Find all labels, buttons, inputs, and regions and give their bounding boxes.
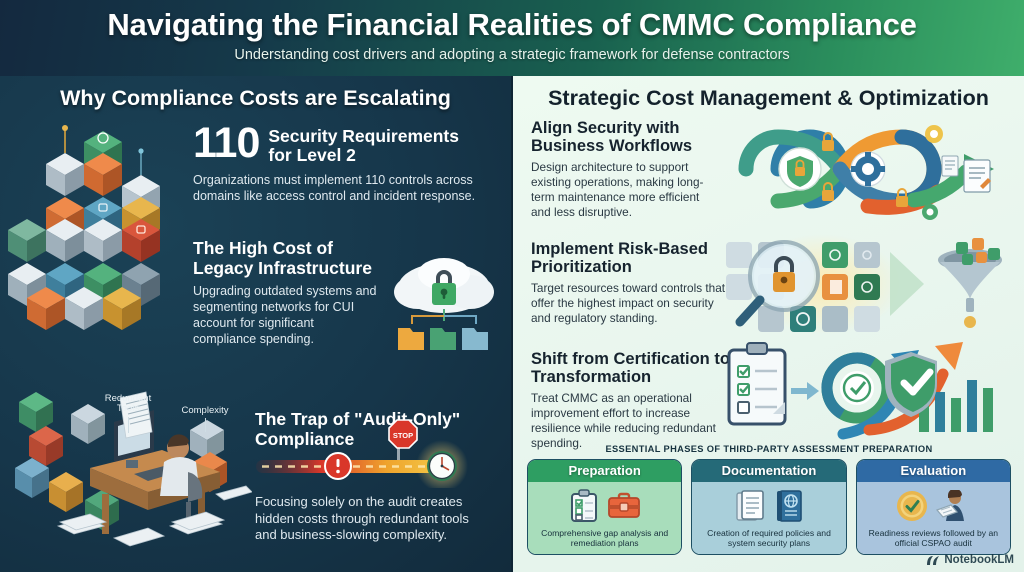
auditor-person-icon [936, 490, 970, 522]
shift-transformation-block: Shift from Certification to Transformati… [531, 350, 731, 451]
risk-prioritization-block: Implement Risk-Based Prioritization Targ… [531, 240, 731, 326]
documents-icon [735, 489, 767, 523]
checklist-icon [569, 489, 599, 523]
policy-binder-icon [775, 489, 803, 523]
clipboard-icon [729, 343, 785, 424]
cloud-lock-folders-illustration [384, 252, 504, 360]
folder-icon-blue [462, 328, 488, 350]
audit-trap-timeline-illustration: STOP [252, 418, 476, 488]
phase-card-evaluation-label: Evaluation [857, 460, 1010, 482]
label-redundant-tools: Redundant Tools [98, 394, 158, 415]
stat-block-110: 110 Security Requirements for Level 2 Or… [193, 124, 485, 204]
legacy-infrastructure-description: Upgrading outdated systems and segmentin… [193, 283, 378, 347]
clock-icon [427, 451, 457, 481]
funnel-icon [938, 238, 1002, 328]
gear-icon-small-top [925, 125, 943, 143]
watermark: NotebookLM [926, 554, 1014, 566]
label-complexity: Complexity [176, 406, 234, 416]
left-column-heading: Why Compliance Costs are Escalating [0, 76, 511, 111]
phases-panel-title: ESSENTIAL PHASES OF THIRD-PARTY ASSESSME… [527, 444, 1011, 454]
legacy-infrastructure-block: The High Cost of Legacy Infrastructure U… [193, 239, 378, 347]
audit-only-trap-description-wrap: Focusing solely on the audit creates hid… [255, 494, 487, 544]
risk-prioritization-illustration [718, 228, 1018, 343]
page-subtitle: Understanding cost drivers and adopting … [0, 47, 1024, 63]
lock-icon-c [896, 189, 908, 207]
document-icon-small [942, 156, 958, 176]
document-icon-large [964, 160, 991, 192]
notebooklm-logo-icon [926, 554, 940, 566]
leader-line-complexity [205, 418, 206, 432]
phase-card-documentation-caption: Creation of required policies and system… [696, 528, 841, 549]
folder-icon-orange [398, 328, 424, 350]
phase-card-evaluation[interactable]: Evaluation [856, 459, 1011, 555]
align-security-title: Align Security with Business Workflows [531, 119, 709, 156]
risk-prioritization-description: Target resources toward controls that of… [531, 281, 731, 326]
phase-card-evaluation-caption: Readiness reviews followed by an officia… [861, 528, 1006, 549]
shift-transformation-description: Treat CMMC as an operational improvement… [531, 391, 731, 451]
stat-label: Security Requirements for Level 2 [268, 124, 485, 166]
toolbox-icon [607, 492, 641, 520]
arrow-icon-right [791, 382, 819, 400]
phase-card-documentation-label: Documentation [692, 460, 845, 482]
phase-card-preparation-label: Preparation [528, 460, 681, 482]
legacy-infrastructure-title: The High Cost of Legacy Infrastructure [193, 239, 378, 278]
alert-icon [325, 453, 351, 479]
folder-icon-green [430, 328, 456, 350]
left-column: Why Compliance Costs are Escalating [0, 76, 511, 572]
leader-line-redundant-tools [128, 417, 129, 433]
phase-card-preparation-caption: Comprehensive gap analysis and remediati… [532, 528, 677, 549]
phase-card-documentation[interactable]: Documentation [691, 459, 846, 555]
stat-description: Organizations must implement 110 control… [193, 172, 485, 204]
infinity-workflow-illustration [718, 114, 1018, 224]
stat-number: 110 [193, 124, 259, 164]
align-security-description: Design architecture to support existing … [531, 160, 709, 220]
page-title: Navigating the Financial Realities of CM… [0, 0, 1024, 43]
audit-only-trap-description: Focusing solely on the audit creates hid… [255, 494, 487, 544]
shift-transformation-title: Shift from Certification to Transformati… [531, 350, 731, 387]
right-column-heading: Strategic Cost Management & Optimization [513, 76, 1024, 111]
transformation-growth-illustration [723, 338, 1018, 443]
risk-prioritization-title: Implement Risk-Based Prioritization [531, 240, 731, 277]
gear-icon-small-bottom [922, 204, 938, 220]
align-security-block: Align Security with Business Workflows D… [531, 119, 709, 220]
phase-card-preparation[interactable]: Preparation [527, 459, 682, 555]
infographic-page: Navigating the Financial Realities of CM… [0, 0, 1024, 572]
shield-lock-icon [779, 148, 821, 190]
watermark-label: NotebookLM [944, 554, 1014, 566]
gear-icon-center [851, 152, 885, 186]
isometric-cube-tower-illustration [8, 108, 208, 348]
header-banner: Navigating the Financial Realities of CM… [0, 0, 1024, 76]
phases-panel: ESSENTIAL PHASES OF THIRD-PARTY ASSESSME… [527, 444, 1011, 564]
award-badge-icon [896, 490, 928, 522]
svg-text:STOP: STOP [393, 431, 413, 440]
